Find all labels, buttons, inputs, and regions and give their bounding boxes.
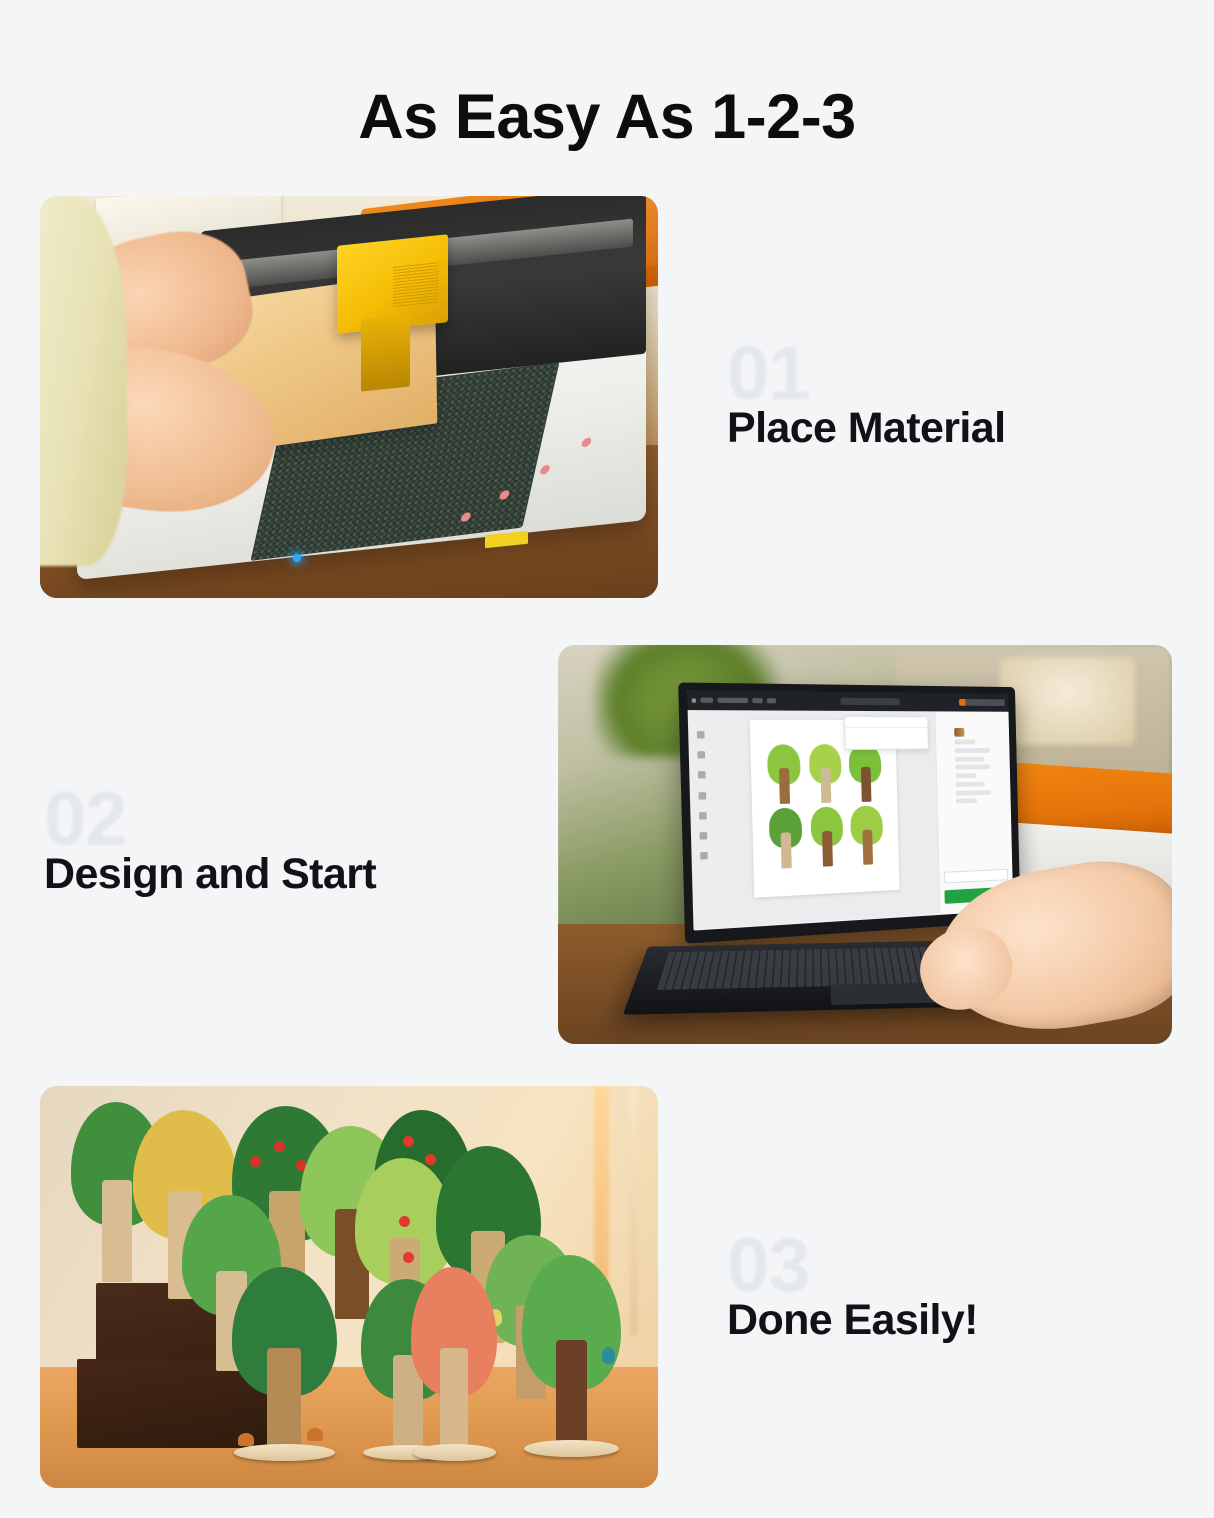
step-3-text: 03 Done Easily! xyxy=(727,1228,1157,1358)
selection-popover[interactable] xyxy=(844,716,930,750)
step-number-03: 03 xyxy=(727,1228,810,1304)
lamp-blur xyxy=(1000,657,1135,745)
step-2-photo xyxy=(558,645,1172,1044)
finished-trees-scene xyxy=(40,1086,658,1488)
laser-nozzle-icon xyxy=(361,314,410,392)
panel-field-row[interactable] xyxy=(955,790,990,796)
step-label-done-easily: Done Easily! xyxy=(727,1297,978,1344)
connect-button[interactable] xyxy=(718,698,749,703)
tree-thumbnail[interactable] xyxy=(766,807,806,868)
step-1-photo xyxy=(40,196,658,598)
tree-thumbnail[interactable] xyxy=(808,806,847,867)
app-logo-icon xyxy=(691,698,695,702)
tree-stand-base xyxy=(413,1444,496,1461)
promo-page: As Easy As 1-2-3 xyxy=(0,0,1214,1518)
undo-icon[interactable] xyxy=(752,698,762,703)
material-selector[interactable] xyxy=(959,699,1005,706)
tree-thumbnail[interactable] xyxy=(847,744,885,803)
sleeve xyxy=(40,196,127,566)
panel-field-row[interactable] xyxy=(955,781,985,786)
step-label-place-material: Place Material xyxy=(727,405,1005,452)
material-swatch[interactable] xyxy=(954,728,964,737)
tree-design-group[interactable] xyxy=(764,744,886,869)
framing-button[interactable] xyxy=(944,868,1009,883)
panel-field-row[interactable] xyxy=(955,773,976,778)
layers-icon[interactable] xyxy=(700,852,708,860)
app-titlebar xyxy=(687,690,1009,712)
panel-field-label xyxy=(954,739,975,744)
pen-icon[interactable] xyxy=(698,792,706,800)
step-number-02: 02 xyxy=(44,782,127,858)
home-icon[interactable] xyxy=(696,731,704,738)
wooden-tree-front xyxy=(411,1267,498,1452)
laptop-screen xyxy=(687,690,1014,930)
wooden-tree-front xyxy=(522,1255,621,1448)
text-icon[interactable] xyxy=(697,751,705,758)
step-number-01: 01 xyxy=(727,336,810,412)
page-title: As Easy As 1-2-3 xyxy=(0,84,1214,150)
menu-icon xyxy=(700,697,714,702)
panel-field-row[interactable] xyxy=(955,764,991,769)
laser-machine-scene xyxy=(40,196,658,598)
popover-header xyxy=(845,717,928,729)
shape-icon[interactable] xyxy=(697,772,705,779)
image-icon[interactable] xyxy=(699,832,707,840)
panel-field-row[interactable] xyxy=(956,798,977,803)
step-3-photo xyxy=(40,1086,658,1488)
tree-stand-base xyxy=(234,1444,335,1461)
tree-thumbnail[interactable] xyxy=(806,744,845,804)
step-2-text: 02 Design and Start xyxy=(44,782,504,912)
document-tab[interactable] xyxy=(841,698,900,705)
tree-thumbnail[interactable] xyxy=(764,744,804,805)
step-1-text: 01 Place Material xyxy=(727,336,1157,466)
step-label-design-and-start: Design and Start xyxy=(44,851,376,898)
panel-field-row[interactable] xyxy=(954,748,990,753)
redo-icon[interactable] xyxy=(767,698,777,703)
light-strip-secondary xyxy=(630,1086,639,1335)
laptop-design-scene xyxy=(558,645,1172,1044)
node-icon[interactable] xyxy=(698,812,706,820)
panel-field-row[interactable] xyxy=(955,756,985,761)
wooden-tree-front xyxy=(232,1267,337,1452)
tree-thumbnail[interactable] xyxy=(848,805,886,865)
